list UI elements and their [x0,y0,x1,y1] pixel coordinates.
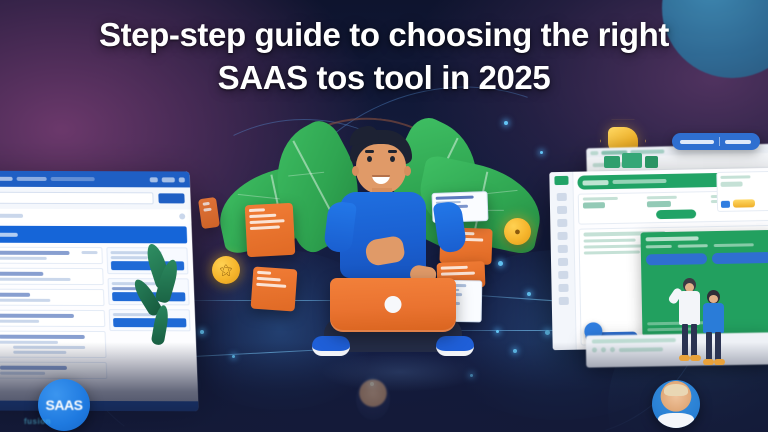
table-row[interactable] [0,247,103,264]
assistant-face [709,295,718,303]
watermark-text: fusion [24,417,51,426]
presenter-shoe-left [679,355,690,361]
share-glyph: ⚝ [220,262,233,278]
right-primary-button[interactable] [656,209,696,219]
presenter-leg-right [691,324,697,356]
character-ear-left [352,166,359,176]
left-dashboard-breadcrumb [0,209,191,224]
character-eye-right [390,156,395,162]
green-modal-button-primary[interactable] [646,253,707,265]
person-coin-icon[interactable]: ● [504,218,531,245]
avatar-hair [664,384,687,396]
sidebar-item-icon[interactable] [557,245,567,253]
character-shoe-right [436,336,474,356]
character-shoe-left [312,336,350,356]
sidebar-logo [554,176,568,185]
sidebar-item-icon[interactable] [558,284,568,292]
assistant-leg-right [715,332,721,360]
character-face [356,144,406,194]
search-input[interactable] [0,192,154,205]
share-coin-icon[interactable]: ⚝ [212,256,240,284]
character-eye-left [367,156,372,162]
floating-orange-card[interactable] [251,267,298,312]
kpi-chip-icon [721,201,730,208]
character-sleeve-right [433,200,468,253]
metric [583,196,641,208]
pill-label-left [680,140,714,144]
cta-pill-button[interactable] [672,133,760,150]
center-faded-avatar [356,378,390,420]
table-row[interactable] [0,310,106,327]
assistant-figure [700,290,726,366]
character-brow-left [365,150,374,153]
person-glyph: ● [514,226,521,238]
assistant-shoe-left [703,359,714,365]
avatar-shirt [658,413,694,428]
sidebar-item-icon[interactable] [557,258,567,266]
green-modal-button-secondary[interactable] [711,252,768,264]
seated-developer-illustration [318,130,468,365]
assistant-shirt [703,303,724,333]
character-ear-right [404,166,411,176]
assistant-shoe-right [714,359,725,365]
table-row[interactable] [0,268,104,285]
gold-chip-icon [733,199,755,207]
assistant-leg-left [706,332,712,360]
right-dashboard-sidebar[interactable] [549,172,576,350]
saas-logo-label: SAAS [46,397,83,413]
presenter-coat [679,291,700,325]
sidebar-item-icon[interactable] [558,271,568,279]
metric [647,195,705,207]
left-dashboard-search-row[interactable] [0,187,191,210]
presenter-leg-left [682,324,688,356]
title-line-2: SAAS tos tool in 2025 [34,57,734,100]
right-dashboard-kpi-card [716,171,768,212]
laptop-trackpad [385,296,402,313]
sidebar-item-icon[interactable] [556,206,566,214]
sidebar-item-icon[interactable] [557,232,567,240]
right-dashboard-panel[interactable] [549,168,768,350]
plant-decoration [136,243,182,358]
sidebar-item-icon[interactable] [558,297,568,305]
presenter-figure [676,278,702,364]
pill-label-right [725,140,751,144]
left-dashboard-topbar [0,171,190,188]
left-dashboard-section-header [0,226,187,244]
orange-laptop[interactable] [330,278,456,332]
testimonial-avatar[interactable] [652,380,700,428]
sidebar-item-icon[interactable] [557,219,567,227]
table-row[interactable] [0,289,105,306]
floating-orange-card[interactable] [245,203,296,257]
hero-banner: Step-step guide to choosing the right SA… [0,0,768,432]
sidebar-item-icon[interactable] [556,193,566,201]
title-line-1: Step-step guide to choosing the right [34,14,734,57]
character-brow-right [388,150,397,153]
left-primary-button[interactable] [158,193,184,203]
green-blocks-decoration [604,152,660,168]
page-title: Step-step guide to choosing the right SA… [0,14,768,100]
